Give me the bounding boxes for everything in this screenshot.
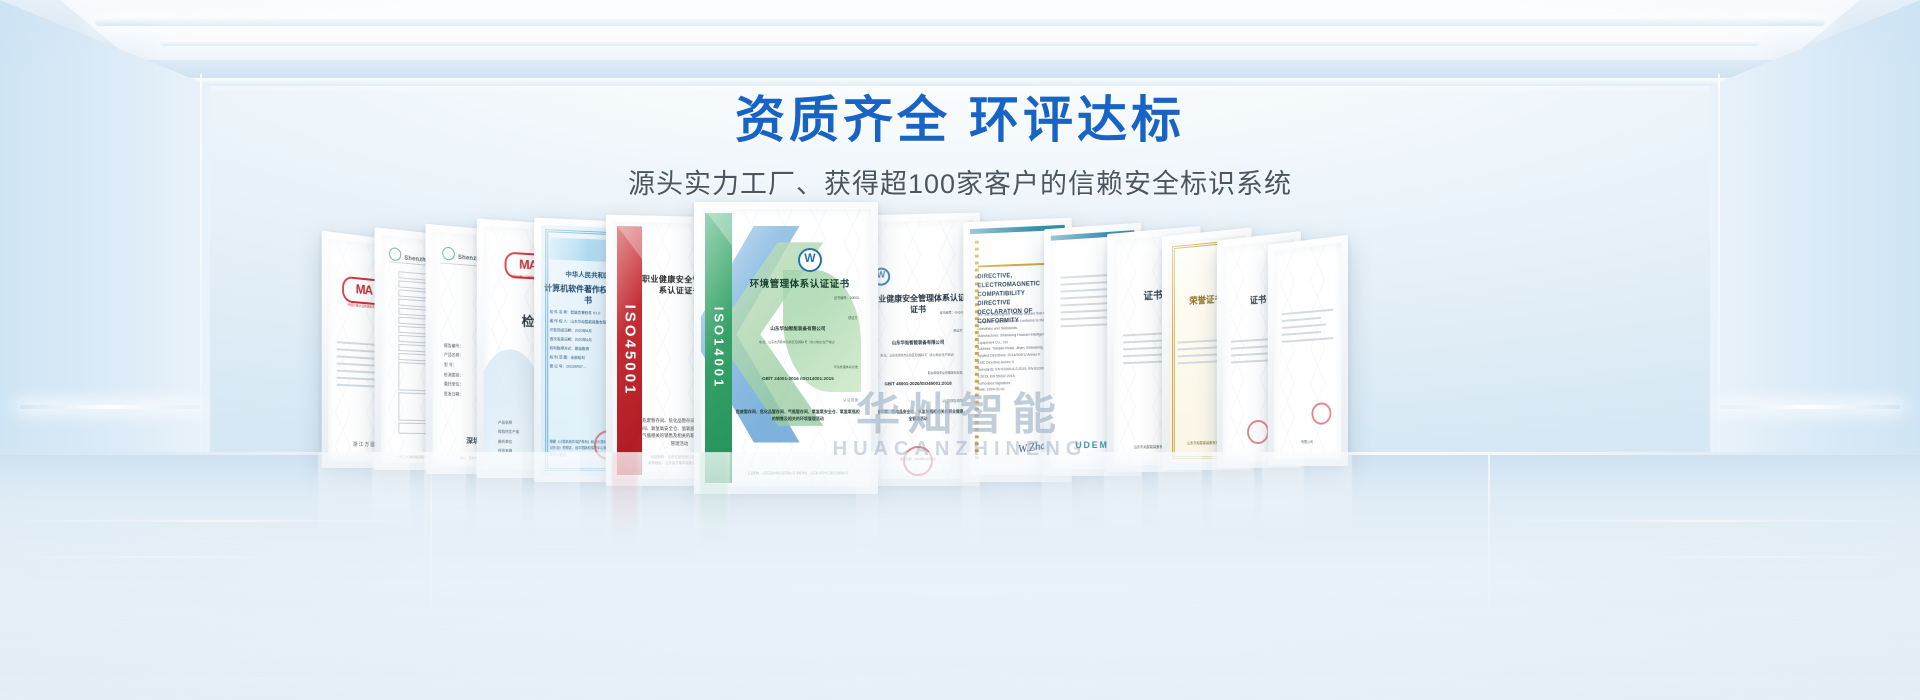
scope-label: 认证范围及范围： (869, 399, 965, 404)
standard-value: GB/T 45001-2020/ISO45001:2018 (869, 380, 968, 386)
field-value: 智能告警软件 V1.0 (571, 310, 601, 315)
banner-headings: 资质齐全环评达标 源头实力工厂、获得超100家客户的信赖安全标识系统 (0, 92, 1920, 201)
field-value: 2023年6月 (575, 337, 592, 341)
field-label: 著 作 权 人： (550, 319, 571, 324)
paper-text-lines (1282, 308, 1333, 347)
iso-band-text: ISO45001 (621, 304, 638, 396)
field-value: 全部权利 (571, 355, 585, 359)
lab-logo-icon (389, 247, 401, 261)
iso-band-red: ISO45001 (617, 226, 642, 475)
lab-logo-icon (443, 246, 456, 260)
scope-value: 危废暂存间、危化品暂存间、气瓶暂存间、氧氢氧安全仓、氧氢氧瓶柜的销售及相关的环境… (735, 409, 861, 423)
company-name: 山东华灿智能装备有限公司 (869, 339, 968, 346)
certificate-footer: 有限公司 (1274, 439, 1342, 445)
banner-stage: 资质齐全环评达标 源头实力工厂、获得超100家客户的信赖安全标识系统 MA 中国… (0, 0, 1920, 700)
field-label: 登 记 号： (550, 364, 566, 368)
official-seal (903, 446, 933, 476)
certificate-footer: 认证机构：山东亿品检测认证有限公司 审核地址：山东省济南市高新区天健路1号 (735, 471, 861, 476)
scope-label: 认 证 范 围： (735, 398, 861, 402)
field-label: 开发完成日期： (550, 328, 575, 333)
company-address: 地 址：山东省济南市高新区天健路1号（办公地址/生产地址） (735, 340, 861, 344)
paper-watermark (863, 220, 973, 479)
certificate-paper: W 职业健康安全管理体系认证证书 证书编号：00Q00.. 获证方： 山东华灿智… (863, 220, 973, 479)
certificate-paper: 有限公司 (1274, 243, 1342, 459)
company-name: 山东华灿智能装备有限公司 (735, 326, 861, 332)
certificate-title: 环境管理体系认证证书 (735, 276, 864, 290)
company-label: 获证方： (735, 315, 861, 320)
field-label: 权利取得方式： (550, 346, 575, 351)
band-corner-highlight (707, 213, 733, 247)
certificate-frame-honor-4[interactable]: 有限公司 (1268, 235, 1348, 466)
band-corner-highlight (617, 226, 643, 261)
official-seal (1247, 419, 1269, 443)
field-value: 原始取得 (575, 346, 589, 350)
standard-value: GB/T 24001-2016 /ISO14001:2015 (735, 376, 861, 381)
page-title: 资质齐全环评达标 (0, 92, 1920, 148)
field-value: 2023SR07... (566, 364, 586, 368)
iso-band-green: ISO14001 (705, 213, 732, 483)
field-label: 权 利 范 围： (550, 355, 571, 359)
certificate-paper: ISO14001 W 环境管理体系认证证书 证书编号：00E00.. 获证方： … (701, 209, 871, 487)
iso-band-text: ISO14001 (711, 307, 726, 390)
certificate-frame-iso14001[interactable]: ISO14001 W 环境管理体系认证证书 证书编号：00E00.. 获证方： … (694, 202, 878, 494)
field-value: 2023年6月 (575, 328, 592, 332)
page-subtitle: 源头实力工厂、获得超100家客户的信赖安全标识系统 (0, 162, 1920, 201)
title-part-1: 资质齐全 (735, 92, 951, 148)
paper-watermark (1274, 243, 1342, 459)
scope-value: 气瓶暂存库、危险品安全仓、氧氢氧瓶柜相关的职业健康安全管理活动 (869, 409, 968, 423)
certificate-number: 证书编号：00E00.. (735, 295, 861, 300)
standard-label: 环境管理体系标准： (735, 365, 861, 369)
title-part-2: 环评达标 (969, 92, 1185, 148)
field-label: 首次发表日期： (550, 337, 575, 342)
field-label: 软 件 名 称： (550, 310, 571, 315)
certification-body-logo-icon: W (798, 248, 822, 272)
